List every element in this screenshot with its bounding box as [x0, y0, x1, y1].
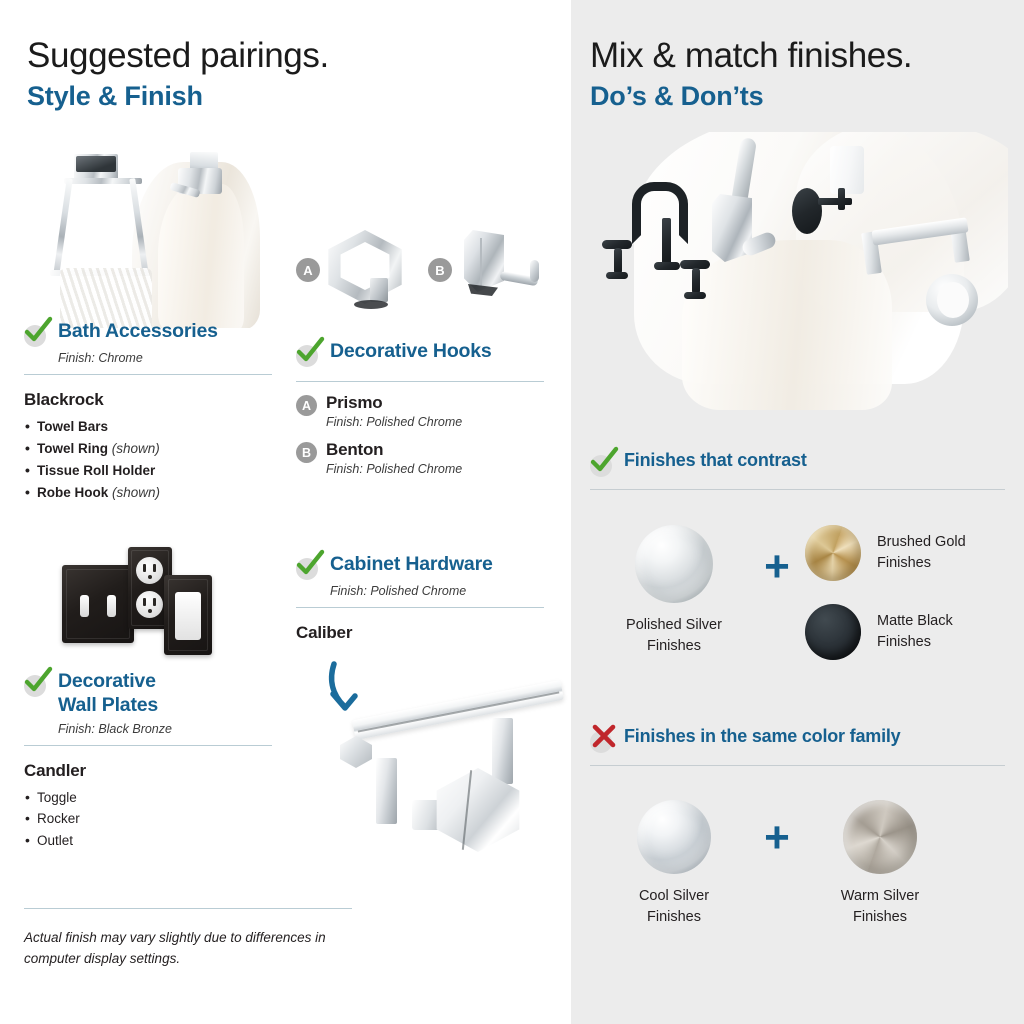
- contrast-swatch-group: Polished Silver Finishes + Brushed Gold …: [599, 525, 1009, 660]
- section-finishes-contrast: Finishes that contrast: [590, 450, 1005, 490]
- finish-value: Chrome: [98, 351, 142, 365]
- finish-value: Polished Chrome: [370, 584, 466, 598]
- swatch-cool-silver: Cool Silver Finishes: [599, 800, 749, 928]
- product-name: Benton: [326, 440, 383, 459]
- section-title: Cabinet Hardware: [330, 553, 493, 577]
- finish-value: Black Bronze: [98, 722, 172, 736]
- list-item: Towel Bars: [24, 416, 272, 438]
- item-name: Tissue Roll Holder: [37, 463, 155, 478]
- finish-line: Finish: Polished Chrome: [326, 462, 462, 476]
- plus-icon: +: [764, 816, 790, 860]
- group-name: Blackrock: [24, 390, 272, 410]
- finish-label: Finish:: [58, 351, 95, 365]
- item-name: Robe Hook: [37, 485, 108, 500]
- marker-a: A: [296, 395, 317, 416]
- section-title-line1: Decorative: [58, 670, 156, 692]
- finish-label: Finish:: [326, 462, 363, 476]
- finish-line: Finish: Polished Chrome: [330, 584, 544, 598]
- item-note: (shown): [112, 441, 160, 456]
- swatch-label: Warm Silver Finishes: [841, 886, 919, 928]
- swatch-brushed-gold: Brushed Gold Finishes: [805, 525, 1009, 581]
- marker-a-image: A: [296, 258, 320, 282]
- brushed-gold-swatch: [805, 525, 861, 581]
- product-row: B Benton Finish: Polished Chrome: [296, 440, 544, 476]
- check-icon: [296, 342, 321, 367]
- marker-b-image: B: [428, 258, 452, 282]
- polished-silver-swatch: [635, 525, 713, 603]
- item-name: Towel Ring: [37, 441, 108, 456]
- list-item: Outlet: [24, 830, 272, 852]
- curved-arrow-icon: [324, 658, 388, 722]
- hero-collage-image: [596, 132, 1008, 428]
- swatch-label: Polished Silver Finishes: [626, 615, 722, 657]
- wall-plates-image: [24, 532, 234, 660]
- prismo-hook-image: [322, 228, 410, 310]
- finish-label: Finish:: [58, 722, 95, 736]
- cool-silver-swatch: [637, 800, 711, 874]
- section-bath-accessories: Bath Accessories Finish: Chrome Blackroc…: [24, 320, 272, 503]
- left-subhead: Style & Finish: [27, 82, 329, 112]
- section-title: Finishes in the same color family: [624, 726, 901, 748]
- section-wall-plates: Decorative Wall Plates Finish: Black Bro…: [24, 670, 272, 852]
- matte-black-swatch: [805, 604, 861, 660]
- finish-value: Polished Chrome: [366, 415, 462, 429]
- divider: [24, 374, 272, 375]
- list-item: Rocker: [24, 808, 272, 830]
- section-title: Decorative Hooks: [330, 340, 492, 364]
- section-decorative-hooks: Decorative Hooks A Prismo Finish: Polish…: [296, 340, 544, 476]
- finish-label: Finish:: [330, 584, 367, 598]
- section-title: Finishes that contrast: [624, 450, 807, 472]
- swatch-matte-black: Matte Black Finishes: [805, 604, 1009, 660]
- product-name: Prismo: [326, 393, 382, 412]
- warm-silver-swatch: [843, 800, 917, 874]
- product-row: A Prismo Finish: Polished Chrome: [296, 393, 544, 429]
- right-headline: Mix & match finishes.: [590, 38, 912, 75]
- check-icon: [24, 322, 49, 347]
- footnote: Actual finish may vary slightly due to d…: [24, 928, 369, 970]
- product-list: Towel Bars Towel Ring (shown) Tissue Rol…: [24, 416, 272, 503]
- right-subhead: Do’s & Don’ts: [590, 82, 912, 112]
- group-name: Candler: [24, 761, 272, 781]
- section-cabinet-hardware: Cabinet Hardware Finish: Polished Chrome…: [296, 553, 544, 643]
- list-item: Towel Ring (shown): [24, 438, 272, 460]
- section-title: Decorative Wall Plates: [58, 670, 158, 718]
- bath-accessories-image: [24, 138, 272, 328]
- divider: [296, 381, 544, 382]
- list-item: Toggle: [24, 787, 272, 809]
- finish-line: Finish: Polished Chrome: [326, 415, 462, 429]
- section-title: Bath Accessories: [58, 320, 218, 344]
- swatch-warm-silver: Warm Silver Finishes: [805, 800, 955, 928]
- section-same-color-family: Finishes in the same color family: [590, 726, 1005, 766]
- benton-hook-image: [460, 228, 548, 312]
- check-icon: [24, 672, 49, 697]
- plus-icon: +: [764, 545, 790, 589]
- finish-label: Finish:: [326, 415, 363, 429]
- swatch-polished-silver: Polished Silver Finishes: [599, 525, 749, 657]
- infographic-page: Suggested pairings. Style & Finish: [0, 0, 1024, 1024]
- cross-icon: [590, 728, 615, 753]
- finish-line: Finish: Chrome: [58, 351, 272, 365]
- caliber-pull-image: [316, 640, 561, 875]
- right-header: Mix & match finishes. Do’s & Don’ts: [590, 38, 912, 111]
- left-panel: Suggested pairings. Style & Finish: [0, 0, 568, 1024]
- right-panel: Mix & match finishes. Do’s & Don’ts: [571, 0, 1024, 1024]
- divider: [296, 607, 544, 608]
- list-item: Tissue Roll Holder: [24, 460, 272, 482]
- swatch-label: Cool Silver Finishes: [639, 886, 709, 928]
- divider: [590, 489, 1005, 490]
- left-headline: Suggested pairings.: [27, 38, 329, 75]
- section-title-line2: Wall Plates: [58, 694, 158, 716]
- divider: [24, 745, 272, 746]
- check-icon: [590, 452, 615, 477]
- same-family-swatch-group: Cool Silver Finishes + Warm Silver Finis…: [599, 800, 1009, 928]
- finish-value: Polished Chrome: [366, 462, 462, 476]
- swatch-label: Matte Black Finishes: [877, 611, 953, 653]
- finish-line: Finish: Black Bronze: [58, 722, 272, 736]
- marker-b: B: [296, 442, 317, 463]
- item-name: Towel Bars: [37, 419, 108, 434]
- item-note: (shown): [112, 485, 160, 500]
- list-item: Robe Hook (shown): [24, 482, 272, 504]
- swatch-label: Brushed Gold Finishes: [877, 532, 966, 574]
- product-list: Toggle Rocker Outlet: [24, 787, 272, 853]
- left-header: Suggested pairings. Style & Finish: [27, 38, 329, 111]
- footnote-divider: [24, 908, 352, 909]
- check-icon: [296, 555, 321, 580]
- divider: [590, 765, 1005, 766]
